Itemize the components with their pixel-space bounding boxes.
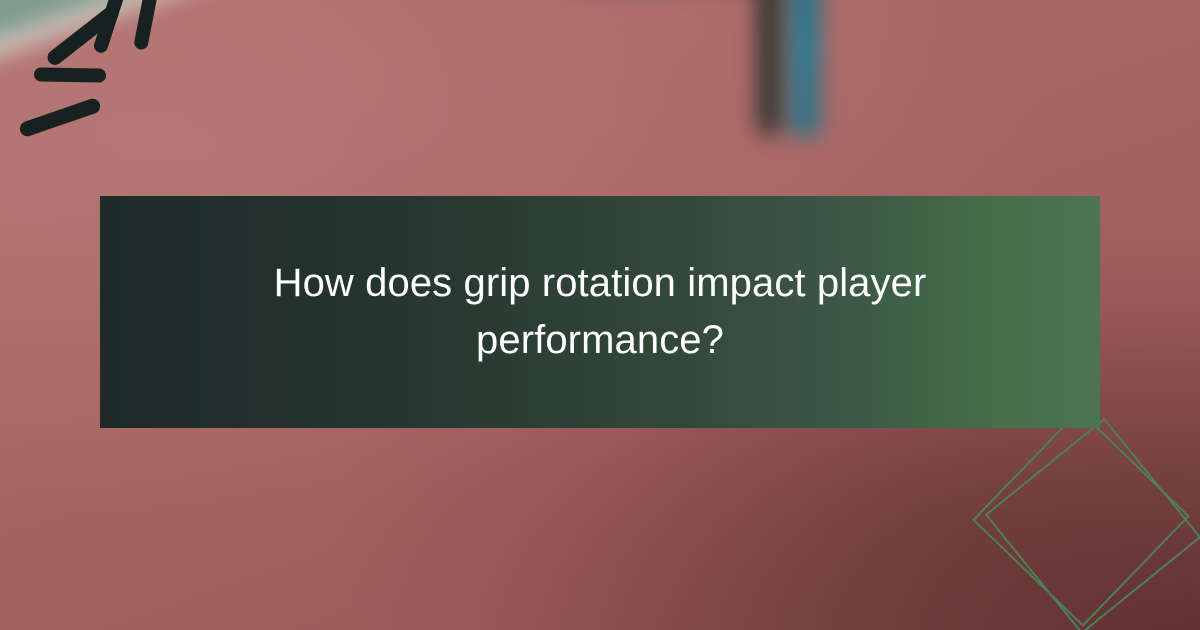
page-title: How does grip rotation impact player per…	[270, 255, 930, 369]
sparkle-burst-icon	[0, 0, 200, 180]
sparkle-stroke	[34, 67, 106, 82]
sparkle-stroke	[133, 0, 161, 51]
sparkle-stroke	[18, 97, 102, 139]
headline-overlay-panel: How does grip rotation impact player per…	[100, 196, 1100, 428]
rotated-square-front	[985, 418, 1200, 630]
social-card: How does grip rotation impact player per…	[0, 0, 1200, 630]
rotated-squares-decoration	[970, 415, 1200, 630]
